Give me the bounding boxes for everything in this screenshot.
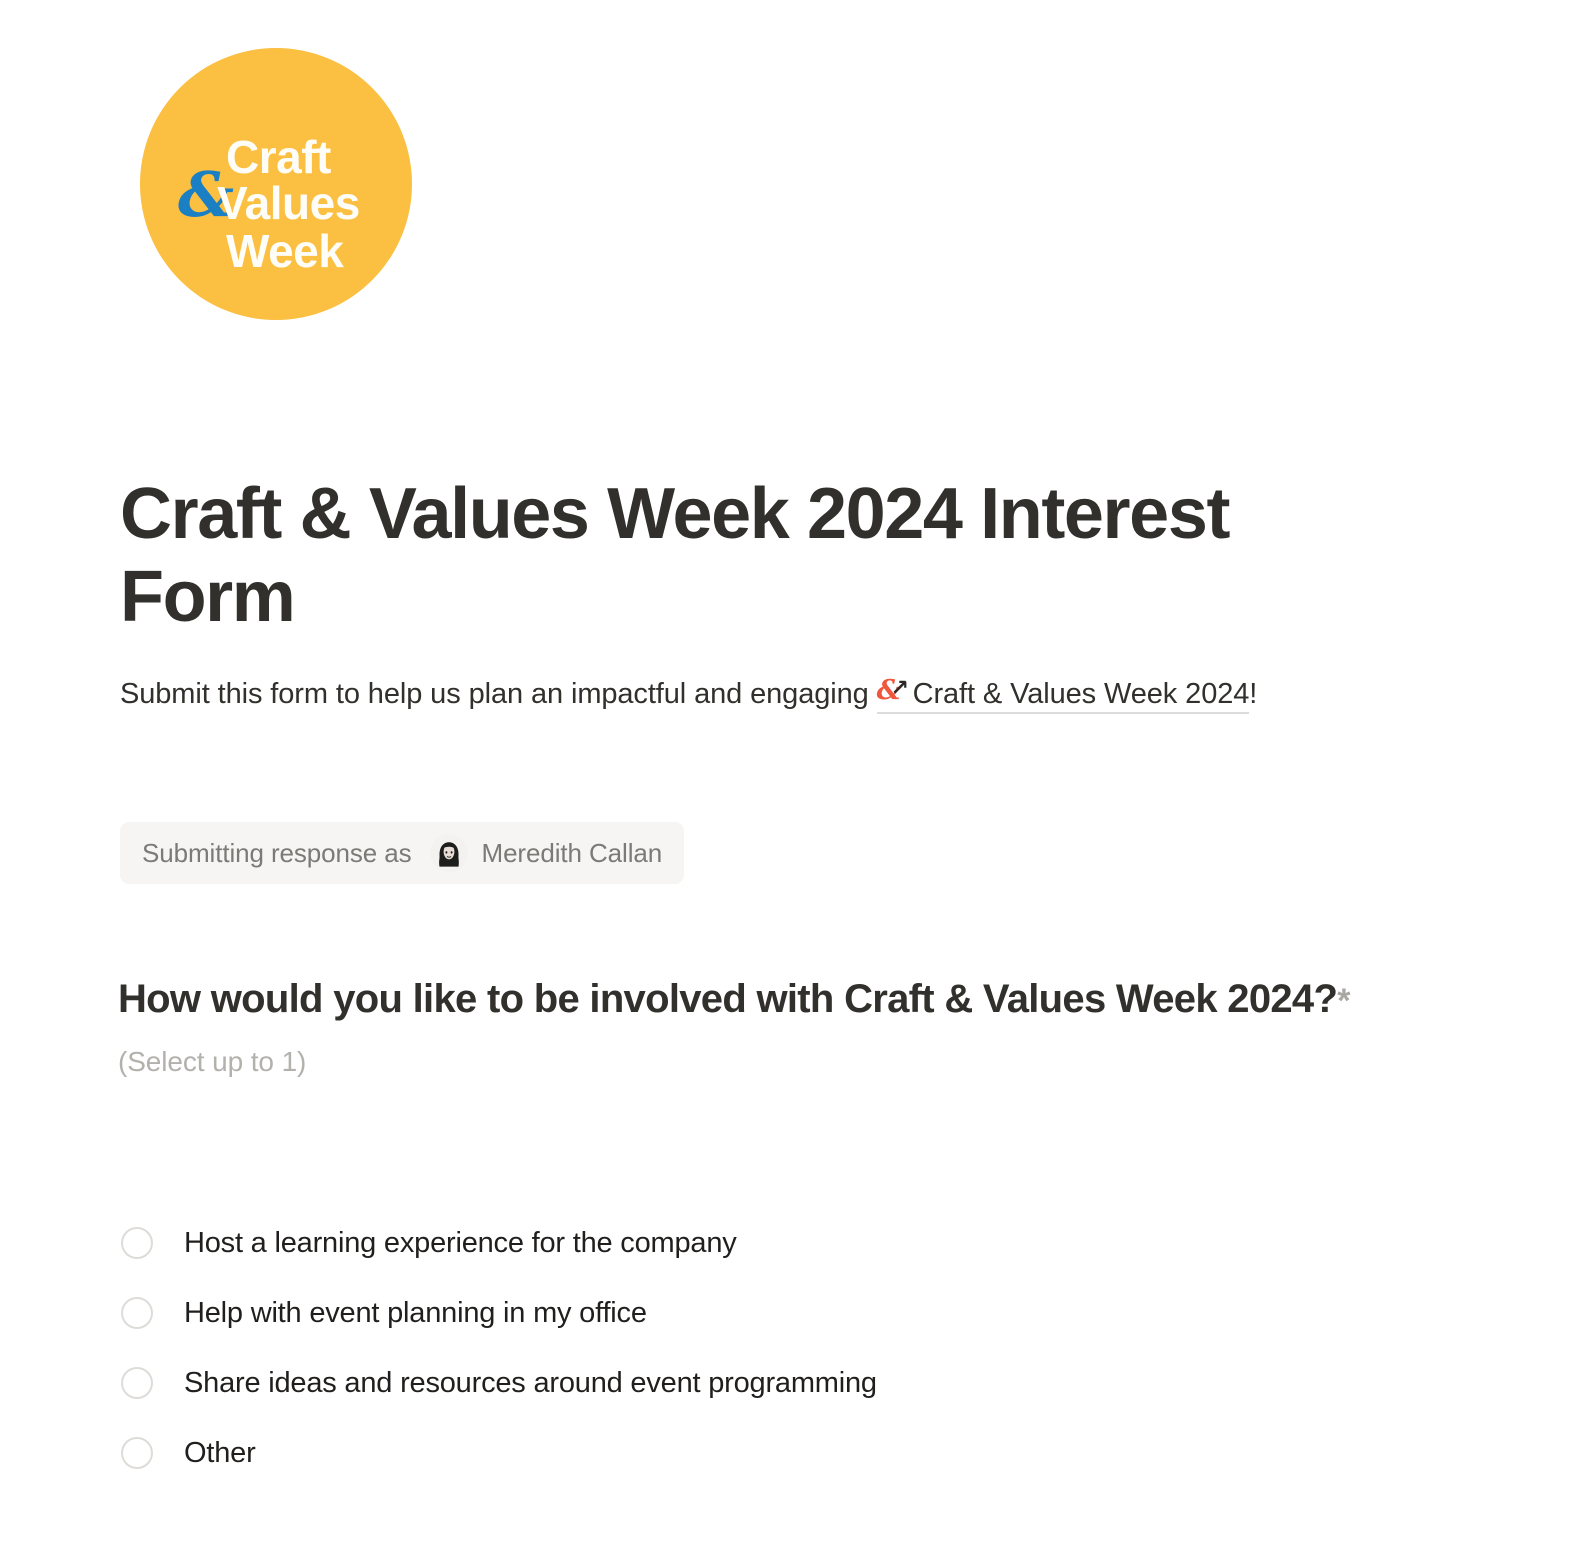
radio-circle-icon[interactable] [121,1437,153,1469]
page-title: Craft & Values Week 2024 Interest Form [120,473,1300,639]
submitting-response-as-username: Meredith Callan [482,838,663,869]
radio-option-2[interactable]: Share ideas and resources around event p… [118,1348,1458,1418]
craft-values-week-mention-link[interactable]: &↗Craft & Values Week 2024 [877,678,1250,714]
radio-option-1[interactable]: Help with event planning in my office [118,1278,1458,1348]
form-description: Submit this form to help us plan an impa… [120,667,1370,721]
logo-line-2: Values [217,180,360,226]
radio-circle-icon[interactable] [121,1367,153,1399]
user-avatar [430,834,468,872]
submitting-response-as-label: Submitting response as [142,838,412,869]
radio-circle-icon[interactable] [121,1227,153,1259]
logo-line-3: Week [226,228,343,274]
required-marker: * [1337,982,1350,1020]
radio-option-label: Help with event planning in my office [184,1297,647,1330]
radio-option-group: Host a learning experience for the compa… [118,1208,1458,1488]
radio-circle-icon[interactable] [121,1297,153,1329]
submitting-response-as-pill: Submitting response as Meredith Callan [120,822,684,884]
logo-text: & Craft Values Week [140,48,412,320]
form-description-suffix: ! [1249,678,1257,710]
question-block: How would you like to be involved with C… [118,975,1458,1078]
mention-label: Craft & Values Week 2024 [913,678,1250,710]
logo-circle: & Craft Values Week [140,48,412,320]
form-description-prefix: Submit this form to help us plan an impa… [120,678,877,710]
question-title-text: How would you like to be involved with C… [118,977,1337,1021]
radio-option-label: Share ideas and resources around event p… [184,1367,877,1400]
ampersand-arrow-icon: &↗ [877,680,911,706]
question-hint: (Select up to 1) [118,1046,1458,1078]
form-page: & Craft Values Week Craft & Values Week … [0,0,1586,1548]
radio-option-label: Host a learning experience for the compa… [184,1227,737,1260]
question-title: How would you like to be involved with C… [118,975,1458,1024]
logo-line-1: Craft [226,134,331,180]
radio-option-0[interactable]: Host a learning experience for the compa… [118,1208,1458,1278]
radio-option-label: Other [184,1437,256,1470]
radio-option-3[interactable]: Other [118,1418,1458,1488]
craft-values-week-logo: & Craft Values Week [140,48,412,320]
mention-arrow-glyph: ↗ [891,678,909,700]
